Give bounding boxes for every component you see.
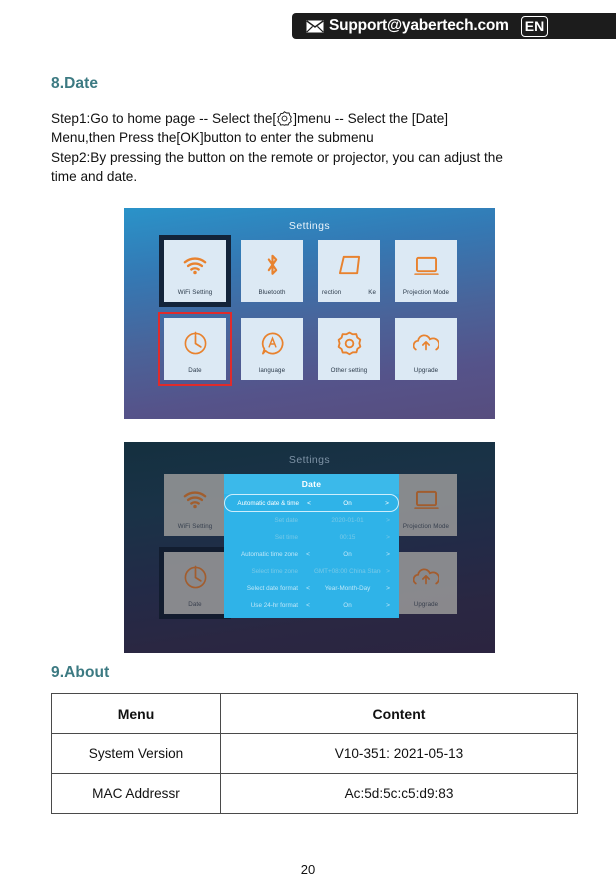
dialog-row-set-time[interactable]: Set time 00:15 > bbox=[224, 529, 399, 546]
dialog-row-value: On bbox=[314, 551, 381, 558]
settings-tile-upgrade[interactable]: Upgrade bbox=[395, 318, 457, 380]
page-number: 20 bbox=[0, 862, 616, 877]
dialog-row-value: GMT+08:00 China Standard Time bbox=[314, 568, 381, 575]
settings-tile-label: WiFi Setting bbox=[164, 289, 226, 296]
about-table: Menu Content System Version V10-351: 202… bbox=[51, 693, 578, 814]
settings-tile-projection-mode[interactable]: Projection Mode bbox=[395, 240, 457, 302]
dialog-row-label: Select time zone bbox=[228, 568, 302, 575]
table-header-menu: Menu bbox=[52, 694, 221, 734]
support-email: Support@yabertech.com bbox=[329, 17, 509, 35]
dialog-row-automatic-time-zone[interactable]: Automatic time zone < On > bbox=[224, 546, 399, 563]
dialog-row-use-24hr-format[interactable]: Use 24-hr format < On > bbox=[224, 597, 399, 614]
dialog-row-set-date[interactable]: Set date 2020-01-01 > bbox=[224, 512, 399, 529]
date-settings-dialog: Date Automatic date & time < On > Set da… bbox=[224, 474, 399, 618]
dialog-row-value: 2020-01-01 bbox=[314, 517, 381, 524]
wifi-icon bbox=[180, 484, 210, 514]
section-heading-date: 8.Date bbox=[51, 75, 98, 93]
wifi-icon bbox=[180, 250, 210, 280]
dialog-row-value: Year-Month-Day bbox=[314, 585, 381, 592]
dialog-row-select-date-format[interactable]: Select date format < Year-Month-Day > bbox=[224, 580, 399, 597]
step1-text-part1: Step1:Go to home page -- Select the[ bbox=[51, 111, 276, 126]
date-screen-tile-projection-mode[interactable]: Projection Mode bbox=[395, 474, 457, 536]
dialog-row-value: 00:15 bbox=[314, 534, 381, 541]
settings-tile-label: rection Ke bbox=[318, 289, 380, 296]
settings-tile-label: Date bbox=[164, 367, 226, 374]
date-screen-tile-label: WiFi Setting bbox=[164, 523, 226, 530]
table-row: MAC Addressr Ac:5d:5c:c5:d9:83 bbox=[52, 774, 578, 814]
support-contact-bar: Support@yabertech.com EN bbox=[292, 13, 616, 39]
dialog-row-label: Automatic time zone bbox=[228, 551, 302, 558]
clock-icon bbox=[180, 562, 210, 592]
dialog-row-label: Set time bbox=[228, 534, 302, 541]
chevron-right-icon[interactable]: > bbox=[380, 500, 394, 507]
date-screen-tile-date[interactable]: Date bbox=[164, 552, 226, 614]
mail-icon bbox=[306, 20, 324, 33]
chevron-left-icon[interactable]: < bbox=[302, 585, 314, 592]
settings-tile-label-left: rection bbox=[322, 289, 341, 296]
table-cell-menu: MAC Addressr bbox=[52, 774, 221, 814]
projection-mode-icon bbox=[411, 250, 441, 280]
chevron-right-icon[interactable]: > bbox=[381, 602, 395, 609]
language-icon bbox=[257, 328, 287, 358]
chevron-right-icon[interactable]: > bbox=[381, 517, 395, 524]
date-screen-tile-label: Date bbox=[164, 601, 226, 608]
step2-line2: time and date. bbox=[51, 167, 571, 186]
step1-line1: Step1:Go to home page -- Select the[]men… bbox=[51, 109, 571, 128]
date-instructions: Step1:Go to home page -- Select the[]men… bbox=[51, 109, 571, 186]
table-cell-content: V10-351: 2021-05-13 bbox=[221, 734, 578, 774]
chevron-right-icon[interactable]: > bbox=[381, 534, 395, 541]
keystone-correction-icon bbox=[334, 250, 364, 280]
dialog-row-label: Automatic date & time bbox=[229, 500, 303, 507]
section-heading-about: 9.About bbox=[51, 664, 109, 682]
chevron-left-icon[interactable]: < bbox=[302, 602, 314, 609]
settings-tile-label: Upgrade bbox=[395, 367, 457, 374]
projection-mode-icon bbox=[411, 484, 441, 514]
date-screen-tile-label: Projection Mode bbox=[395, 523, 457, 530]
dialog-row-select-time-zone[interactable]: Select time zone GMT+08:00 China Standar… bbox=[224, 563, 399, 580]
settings-tile-label: Other setting bbox=[318, 367, 380, 374]
settings-tile-label-right: Ke bbox=[368, 289, 376, 296]
settings-tile-label: Projection Mode bbox=[395, 289, 457, 296]
chevron-right-icon[interactable]: > bbox=[381, 551, 395, 558]
chevron-left-icon[interactable]: < bbox=[302, 551, 314, 558]
settings-tile-language[interactable]: language bbox=[241, 318, 303, 380]
gear-icon bbox=[334, 328, 364, 358]
upgrade-cloud-icon bbox=[411, 562, 441, 592]
chevron-right-icon[interactable]: > bbox=[381, 585, 395, 592]
settings-tile-grid: WiFi Setting Bluetooth rection Ke bbox=[164, 240, 456, 380]
table-header-content: Content bbox=[221, 694, 578, 734]
chevron-right-icon[interactable]: > bbox=[381, 568, 395, 575]
chevron-left-icon[interactable]: < bbox=[303, 500, 315, 507]
date-screen-tile-wifi[interactable]: WiFi Setting bbox=[164, 474, 226, 536]
date-screen-tile-label: Upgrade bbox=[395, 601, 457, 608]
settings-tile-other-setting[interactable]: Other setting bbox=[318, 318, 380, 380]
upgrade-cloud-icon bbox=[411, 328, 441, 358]
settings-screen-title: Settings bbox=[124, 220, 495, 232]
date-screen-title: Settings bbox=[124, 454, 495, 466]
dialog-row-value: On bbox=[315, 500, 380, 507]
dialog-row-label: Select date format bbox=[228, 585, 302, 592]
language-badge[interactable]: EN bbox=[521, 16, 548, 37]
projector-date-submenu-screenshot: Settings WiFi Setting Proje bbox=[124, 442, 495, 653]
dialog-row-label: Set date bbox=[228, 517, 302, 524]
table-cell-menu: System Version bbox=[52, 734, 221, 774]
step1-line2: Menu,then Press the[OK]button to enter t… bbox=[51, 128, 571, 147]
settings-tile-date[interactable]: Date bbox=[164, 318, 226, 380]
table-row: System Version V10-351: 2021-05-13 bbox=[52, 734, 578, 774]
dialog-row-automatic-date-time[interactable]: Automatic date & time < On > bbox=[224, 494, 399, 512]
settings-tile-label: language bbox=[241, 367, 303, 374]
step1-text-part2: ]menu -- Select the [Date] bbox=[293, 111, 448, 126]
settings-tile-keystone-correction[interactable]: rection Ke bbox=[318, 240, 380, 302]
dialog-title: Date bbox=[224, 474, 399, 494]
table-cell-content: Ac:5d:5c:c5:d9:83 bbox=[221, 774, 578, 814]
step2-line1: Step2:By pressing the button on the remo… bbox=[51, 148, 571, 167]
settings-tile-label: Bluetooth bbox=[241, 289, 303, 296]
gear-icon bbox=[277, 111, 292, 126]
table-header-row: Menu Content bbox=[52, 694, 578, 734]
dialog-row-value: On bbox=[314, 602, 381, 609]
date-screen-tile-upgrade[interactable]: Upgrade bbox=[395, 552, 457, 614]
settings-tile-bluetooth[interactable]: Bluetooth bbox=[241, 240, 303, 302]
dialog-row-label: Use 24-hr format bbox=[228, 602, 302, 609]
bluetooth-icon bbox=[257, 250, 287, 280]
clock-icon bbox=[180, 328, 210, 358]
settings-tile-wifi[interactable]: WiFi Setting bbox=[164, 240, 226, 302]
projector-settings-screenshot: Settings WiFi Setting Bluetooth bbox=[124, 208, 495, 419]
